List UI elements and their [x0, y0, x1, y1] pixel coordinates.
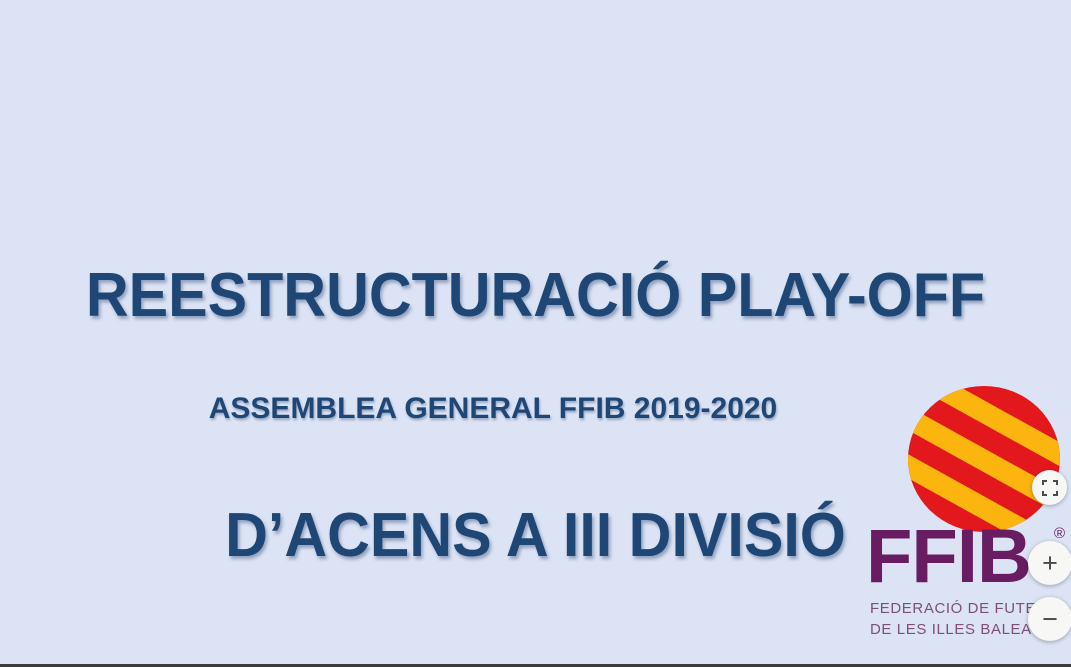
zoom-out-button[interactable]: − — [1028, 597, 1071, 641]
ffib-tagline-line-2: DE LES ILLES BALEA — [870, 621, 1032, 638]
slide-viewer[interactable]: REESTRUCTURACIÓ PLAY-OFF D’ACENS A III D… — [0, 0, 1071, 667]
plus-icon: + — [1042, 550, 1058, 577]
ffib-tagline-line-1: FEDERACIÓ DE FUTE — [870, 600, 1036, 617]
slide-title-line-1: REESTRUCTURACIÓ PLAY-OFF — [24, 256, 1047, 336]
collapse-button[interactable] — [1032, 470, 1067, 505]
zoom-in-button[interactable]: + — [1028, 541, 1071, 585]
minus-icon: − — [1042, 606, 1058, 633]
registered-trademark-icon: ® — [1054, 526, 1065, 541]
ffib-ball-icon — [908, 386, 1060, 532]
collapse-arrows-icon — [1042, 480, 1058, 496]
